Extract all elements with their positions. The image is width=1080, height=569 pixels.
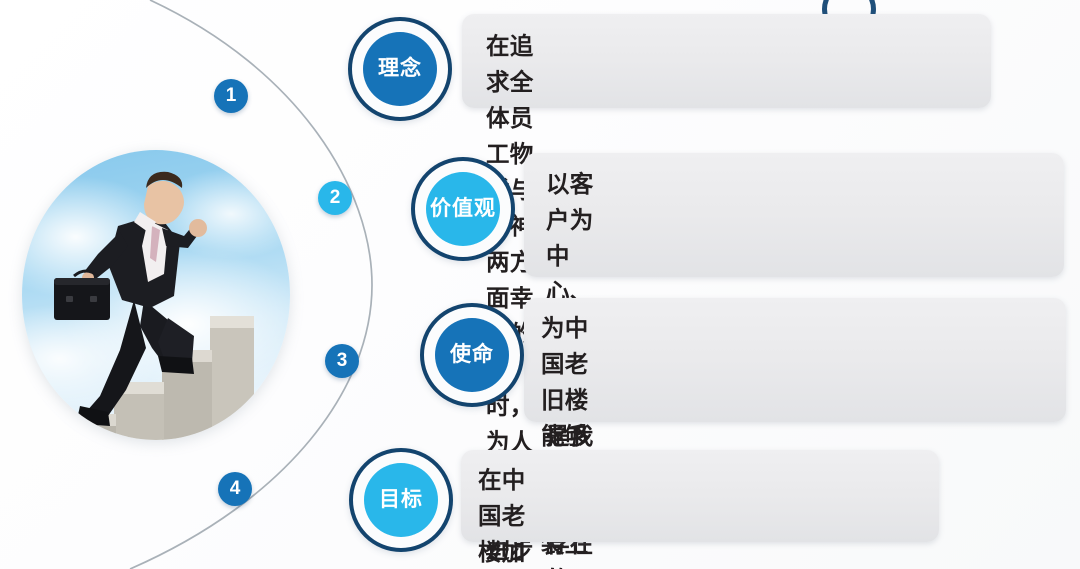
badge-label-line: 观 xyxy=(474,198,496,220)
badge-label-line: 目标 xyxy=(379,489,423,511)
panel-text-goal: 在中国老楼加装电梯行业要成为第一； 在世界电梯制造领域要成为一流。 xyxy=(478,462,526,569)
arc-number-bullet-4: 4 xyxy=(218,472,252,506)
badge-label-goal: 目标 xyxy=(364,463,438,537)
arc-number-bullet-1: 1 xyxy=(214,79,248,113)
badge-label-line: 理念 xyxy=(378,58,422,80)
badge-mission[interactable]: 使命 xyxy=(420,303,524,407)
panel-philosophy xyxy=(462,14,991,108)
badge-label-philosophy: 理念 xyxy=(363,32,437,106)
arc-number-bullet-3: 3 xyxy=(325,344,359,378)
panel-goal xyxy=(461,450,939,542)
badge-philosophy[interactable]: 理念 xyxy=(348,17,452,121)
badge-label-values: 价值观 xyxy=(426,172,500,246)
badge-label-line: 价值 xyxy=(430,198,474,220)
badge-label-mission: 使命 xyxy=(435,318,509,392)
panel-values xyxy=(524,153,1064,277)
arc-number-bullet-2: 2 xyxy=(318,181,352,215)
badge-label-line: 使命 xyxy=(450,344,494,366)
badge-values[interactable]: 价值观 xyxy=(411,157,515,261)
badge-goal[interactable]: 目标 xyxy=(349,448,453,552)
infographic-canvas: 1234在追求全体员工物质与精神两方面幸福的 同时，为人类社会的进步发展做出贡献… xyxy=(0,0,1080,569)
photo-illustration xyxy=(22,150,290,440)
panel-mission xyxy=(524,298,1066,422)
photo-businessman-stairs xyxy=(22,150,290,440)
